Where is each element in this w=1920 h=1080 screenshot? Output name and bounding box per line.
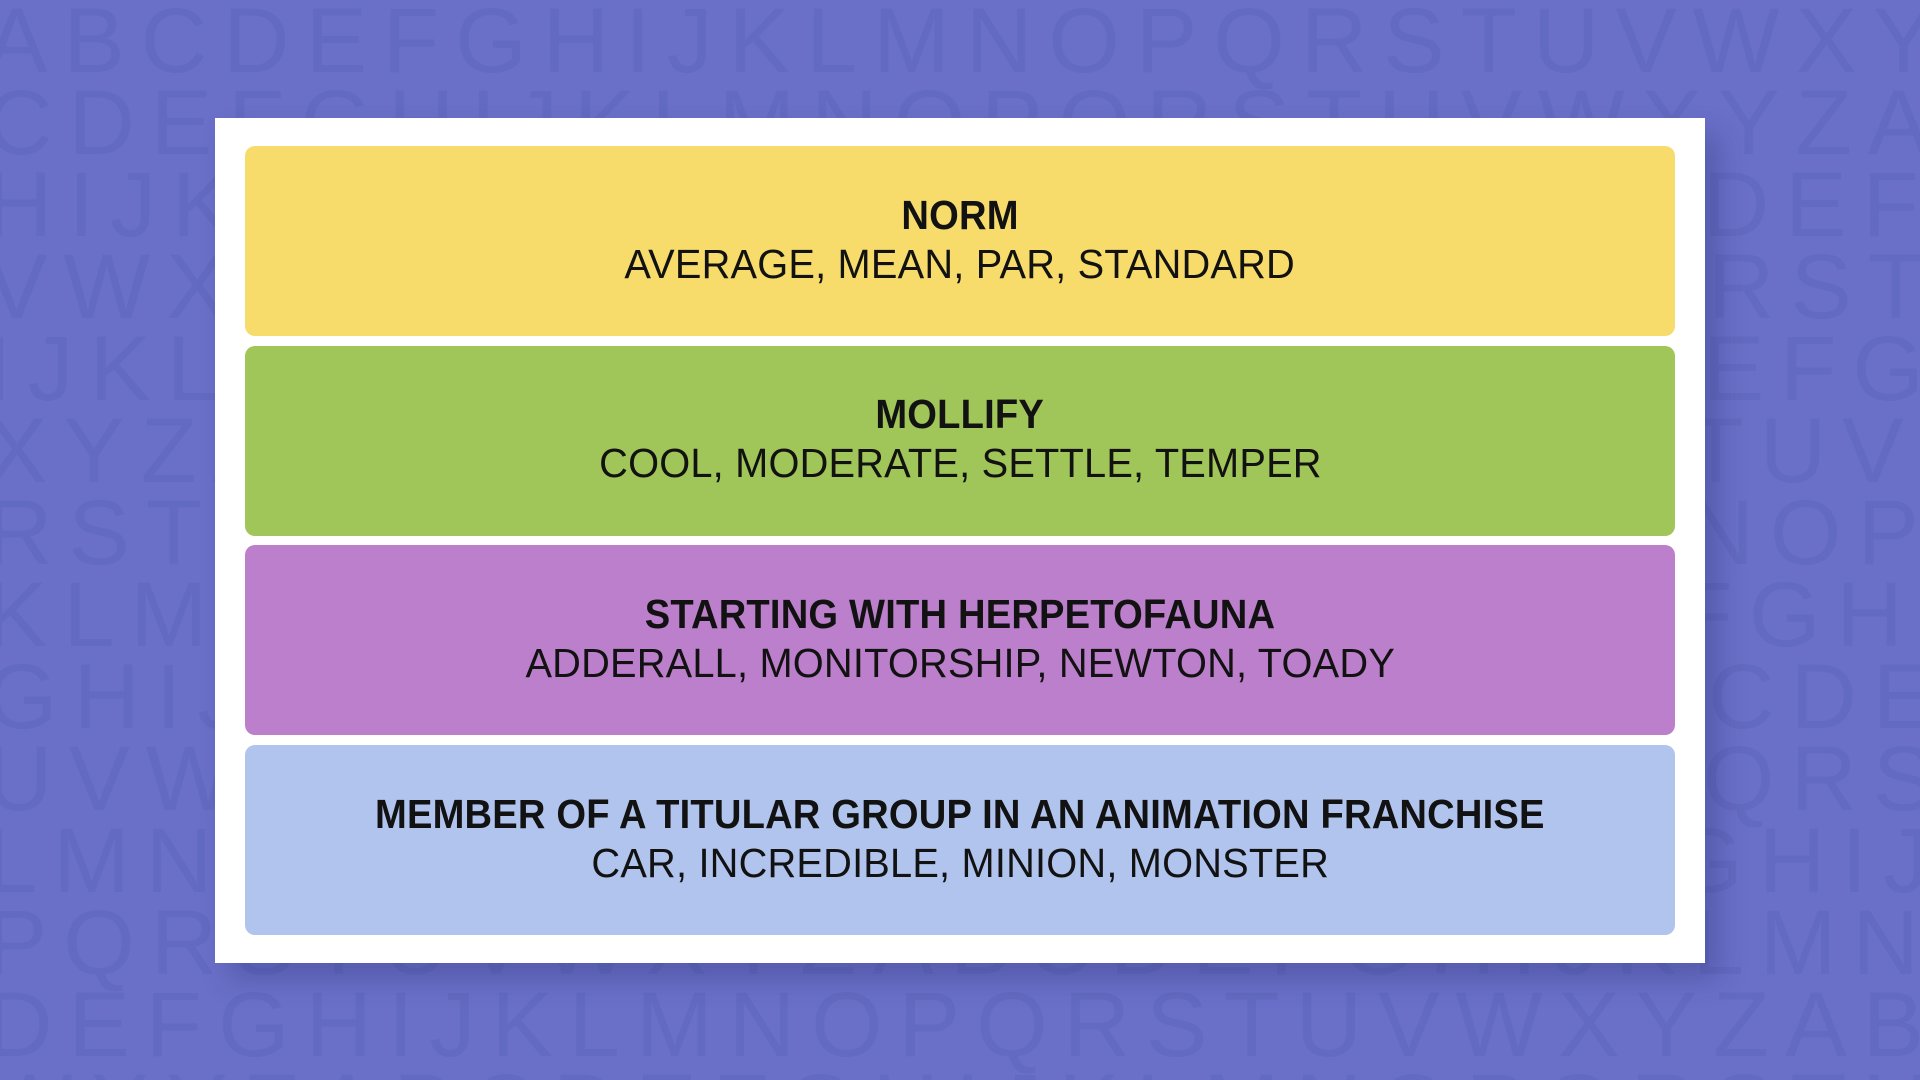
answers-card: NORM AVERAGE, MEAN, PAR, STANDARD MOLLIF…: [215, 118, 1705, 963]
group-words: AVERAGE, MEAN, PAR, STANDARD: [625, 240, 1296, 288]
group-words: ADDERALL, MONITORSHIP, NEWTON, TOADY: [525, 639, 1395, 687]
background-letter-row: ABCDEFGHIJKLMNOPQRSTUVWXYZABCDEFG: [0, 0, 1920, 82]
group-title: STARTING WITH HERPETOFAUNA: [645, 593, 1275, 636]
background-letter-row: DEFGHIJKLMNOPQRSTUVWXYZABCDEFGHIJ: [0, 984, 1920, 1066]
puzzle-answer-card-stage: ABCDEFGHIJKLMNOPQRSTUVWXYZABCDEFG CDEFGH…: [0, 0, 1920, 1080]
group-title: MOLLIFY: [876, 393, 1045, 436]
group-row-green[interactable]: MOLLIFY COOL, MODERATE, SETTLE, TEMPER: [245, 346, 1675, 536]
group-title: MEMBER OF A TITULAR GROUP IN AN ANIMATIO…: [375, 793, 1545, 836]
group-words: CAR, INCREDIBLE, MINION, MONSTER: [591, 839, 1329, 887]
group-title: NORM: [901, 194, 1018, 237]
background-letter-row: WXYZABCDEFGHIJKLMNOPQRSTUVWXYZABC: [0, 1066, 1920, 1080]
group-row-yellow[interactable]: NORM AVERAGE, MEAN, PAR, STANDARD: [245, 146, 1675, 336]
group-row-purple[interactable]: STARTING WITH HERPETOFAUNA ADDERALL, MON…: [245, 545, 1675, 735]
group-row-blue[interactable]: MEMBER OF A TITULAR GROUP IN AN ANIMATIO…: [245, 745, 1675, 935]
group-words: COOL, MODERATE, SETTLE, TEMPER: [599, 439, 1322, 487]
